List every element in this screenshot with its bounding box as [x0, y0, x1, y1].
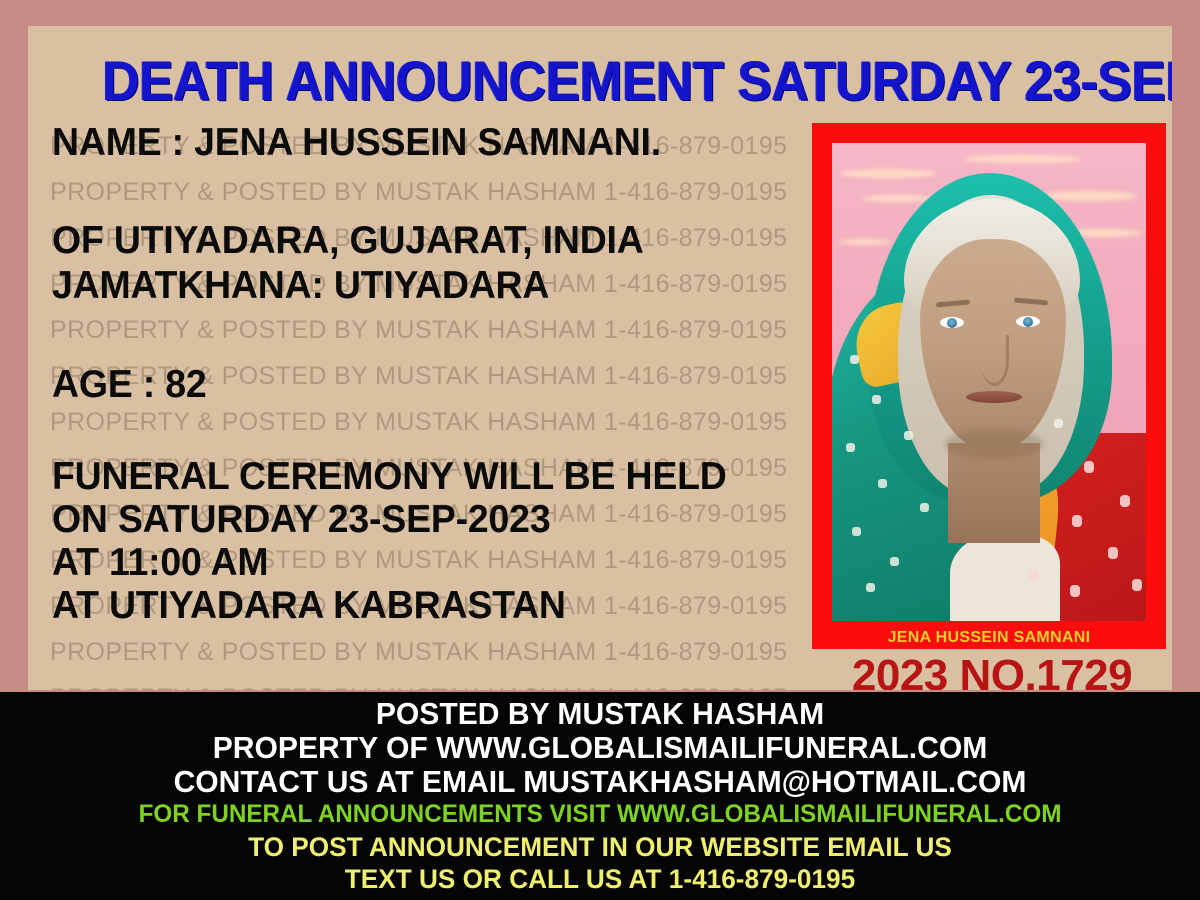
scarf-dot — [1054, 419, 1063, 428]
scarf-dot — [890, 557, 899, 566]
scarf-dot — [904, 431, 913, 440]
scarf-dot — [866, 583, 875, 592]
red-shawl-dot — [1108, 547, 1118, 559]
cloud-shape — [862, 195, 932, 202]
red-shawl-dot — [1072, 515, 1082, 527]
cloud-shape — [962, 155, 1082, 163]
scarf-dot — [920, 503, 929, 512]
funeral-line-3: AT 11:00 AM — [52, 542, 268, 584]
announcement-panel: PROPERTY & POSTED BY MUSTAK HASHAM 1-416… — [28, 26, 1172, 690]
cloud-shape — [1042, 191, 1137, 201]
footer-contact-email: CONTACT US AT EMAIL MUSTAKHASHAM@HOTMAIL… — [18, 764, 1182, 800]
chin-shadow — [944, 429, 1044, 459]
content-layer: DEATH ANNOUNCEMENT SATURDAY 23-SEP-2023 … — [28, 26, 1172, 690]
footer-bar: POSTED BY MUSTAK HASHAM PROPERTY OF WWW.… — [0, 692, 1200, 900]
funeral-line-1: FUNERAL CEREMONY WILL BE HELD — [52, 456, 727, 498]
deceased-name-line: NAME : JENA HUSSEIN SAMNANI. — [52, 122, 661, 164]
funeral-line-2: ON SATURDAY 23-SEP-2023 — [52, 499, 550, 541]
red-shawl-dot — [1084, 461, 1094, 473]
origin-line: OF UTIYADARA, GUJARAT, INDIA — [52, 220, 644, 262]
footer-property-of: PROPERTY OF WWW.GLOBALISMAILIFUNERAL.COM — [18, 730, 1182, 766]
red-shawl-dot — [1132, 579, 1142, 591]
iris-left — [947, 318, 957, 328]
funeral-line-4: AT UTIYADARA KABRASTAN — [52, 585, 566, 627]
reference-number: 2023 NO.1729 — [812, 652, 1172, 690]
cloud-shape — [840, 169, 936, 178]
white-shawl-panel — [950, 535, 1060, 621]
cloud-shape — [838, 239, 892, 245]
death-announcement-poster: PROPERTY & POSTED BY MUSTAK HASHAM 1-416… — [0, 0, 1200, 900]
age-line: AGE : 82 — [52, 364, 207, 406]
portrait-photo — [832, 143, 1146, 621]
jamatkhana-line: JAMATKHANA: UTIYADARA — [52, 265, 549, 307]
eye-right — [1016, 316, 1040, 327]
red-shawl-dot — [1028, 569, 1038, 581]
portrait-caption: JENA HUSSEIN SAMNANI — [812, 629, 1166, 647]
scarf-dot — [878, 479, 887, 488]
footer-phone: TEXT US OR CALL US AT 1-416-879-0195 — [18, 864, 1182, 895]
footer-announcements-website: FOR FUNERAL ANNOUNCEMENTS VISIT WWW.GLOB… — [18, 800, 1182, 829]
red-shawl-dot — [1070, 585, 1080, 597]
footer-post-instructions: TO POST ANNOUNCEMENT IN OUR WEBSITE EMAI… — [18, 832, 1182, 863]
page-title: DEATH ANNOUNCEMENT SATURDAY 23-SEP-2023 — [102, 52, 1123, 110]
scarf-dot — [846, 443, 855, 452]
scarf-dot — [872, 395, 881, 404]
footer-posted-by: POSTED BY MUSTAK HASHAM — [18, 696, 1182, 732]
red-shawl-dot — [1120, 495, 1130, 507]
portrait-frame: JENA HUSSEIN SAMNANI — [812, 123, 1166, 649]
scarf-dot — [852, 527, 861, 536]
nose — [980, 335, 1009, 386]
mouth — [966, 391, 1022, 403]
iris-right — [1023, 317, 1033, 327]
eye-left — [940, 317, 964, 328]
scarf-dot — [850, 355, 859, 364]
